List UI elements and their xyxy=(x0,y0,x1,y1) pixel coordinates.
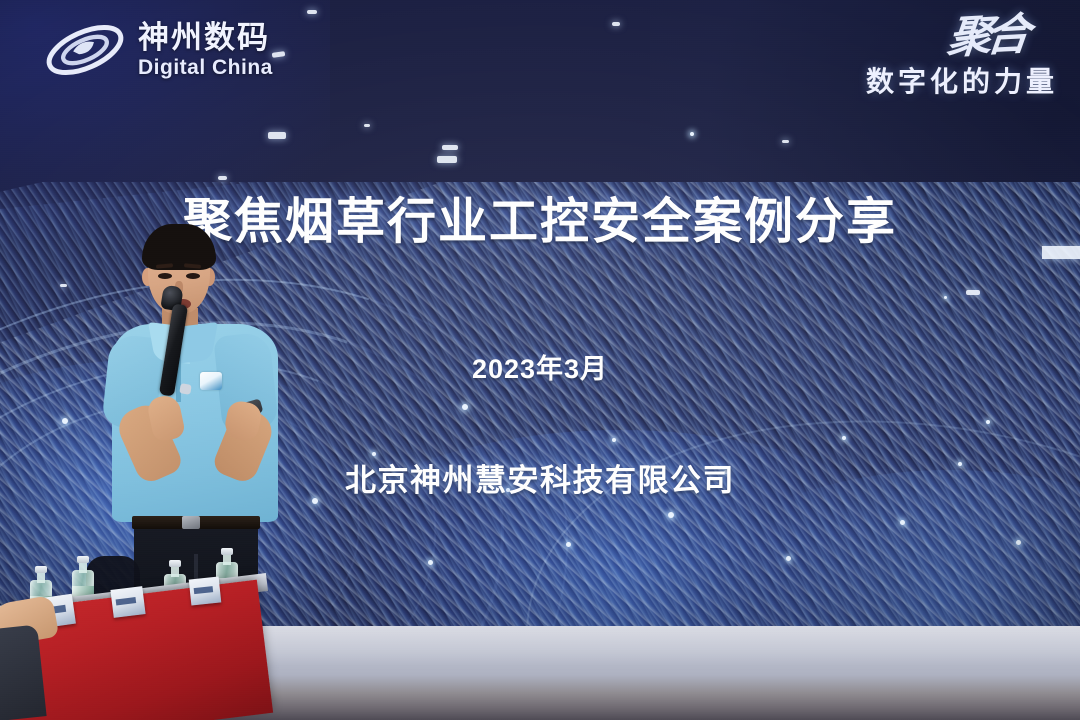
speaker-hair xyxy=(142,224,216,270)
conference-photo-scene: 聚焦烟草行业工控安全案例分享 2023年3月 北京神州慧安科技有限公司 神州数码… xyxy=(0,0,1080,720)
name-card xyxy=(189,577,222,606)
microphone-tip-icon xyxy=(179,383,191,395)
event-mark: 聚合 数字化的力量 xyxy=(866,14,1058,100)
event-brush-text: 聚合 xyxy=(945,11,1060,61)
event-subtitle: 数字化的力量 xyxy=(866,60,1058,100)
speaker-eye-left xyxy=(158,273,172,279)
chest-emblem-icon xyxy=(200,372,222,390)
brand-logo: 神州数码 Digital China xyxy=(42,18,273,82)
brand-name-cn: 神州数码 xyxy=(138,22,273,53)
speaker-belt-buckle xyxy=(182,516,200,529)
brand-wordmark: 神州数码 Digital China xyxy=(138,22,273,78)
brand-name-en: Digital China xyxy=(138,57,273,78)
speaker-eye-right xyxy=(186,273,200,279)
name-card xyxy=(110,586,145,618)
spiral-swoosh-icon xyxy=(42,18,128,82)
